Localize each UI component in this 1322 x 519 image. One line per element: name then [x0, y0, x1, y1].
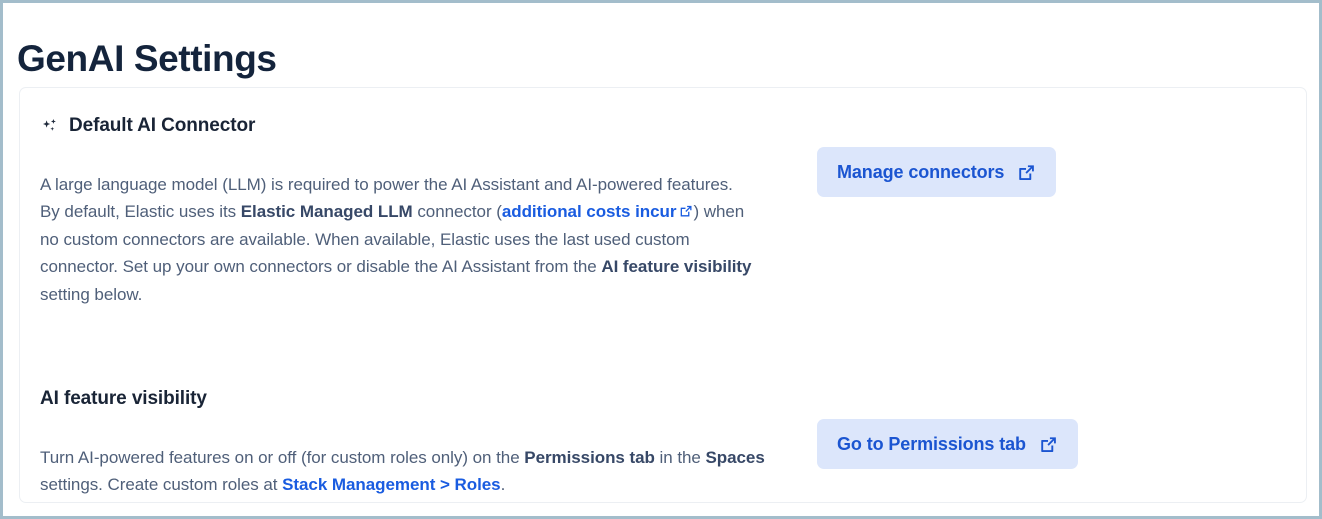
manage-connectors-button[interactable]: Manage connectors — [817, 147, 1056, 197]
desc-text-part-2: connector ( — [413, 202, 502, 221]
stack-management-roles-link[interactable]: Stack Management > Roles — [282, 475, 500, 494]
visibility-text-part-1: Turn AI-powered features on or off (for … — [40, 448, 524, 467]
section-title-default-ai-connector: Default AI Connector — [69, 114, 255, 138]
go-to-permissions-tab-button[interactable]: Go to Permissions tab — [817, 419, 1078, 469]
section-title-ai-feature-visibility: AI feature visibility — [40, 387, 207, 411]
settings-page-frame: GenAI Settings Default AI Connector A la… — [0, 0, 1322, 519]
section-header-default-ai-connector: Default AI Connector — [40, 114, 255, 138]
external-link-icon — [1017, 163, 1036, 182]
manage-connectors-button-label: Manage connectors — [837, 162, 1004, 183]
visibility-text-part-2: in the — [655, 448, 706, 467]
default-ai-connector-description: A large language model (LLM) is required… — [40, 171, 752, 308]
page-title: GenAI Settings — [17, 36, 277, 82]
sparkles-icon — [40, 117, 60, 137]
section-header-ai-feature-visibility: AI feature visibility — [40, 387, 207, 411]
ai-feature-visibility-description: Turn AI-powered features on or off (for … — [40, 444, 768, 499]
visibility-bold-spaces: Spaces — [706, 448, 765, 467]
visibility-text-part-3: settings. Create custom roles at — [40, 475, 282, 494]
go-to-permissions-tab-button-label: Go to Permissions tab — [837, 434, 1026, 455]
genai-settings-panel: Default AI Connector A large language mo… — [19, 87, 1307, 503]
additional-costs-incur-link[interactable]: additional costs incur — [502, 202, 694, 221]
visibility-text-part-4: . — [501, 475, 506, 494]
external-link-icon — [679, 199, 693, 213]
desc-bold-elastic-managed-llm: Elastic Managed LLM — [241, 202, 413, 221]
external-link-icon — [1039, 435, 1058, 454]
desc-text-part-4: setting below. — [40, 285, 142, 304]
desc-bold-ai-feature-visibility: AI feature visibility — [601, 257, 751, 276]
visibility-bold-permissions-tab: Permissions tab — [524, 448, 655, 467]
additional-costs-incur-link-label: additional costs incur — [502, 202, 677, 221]
